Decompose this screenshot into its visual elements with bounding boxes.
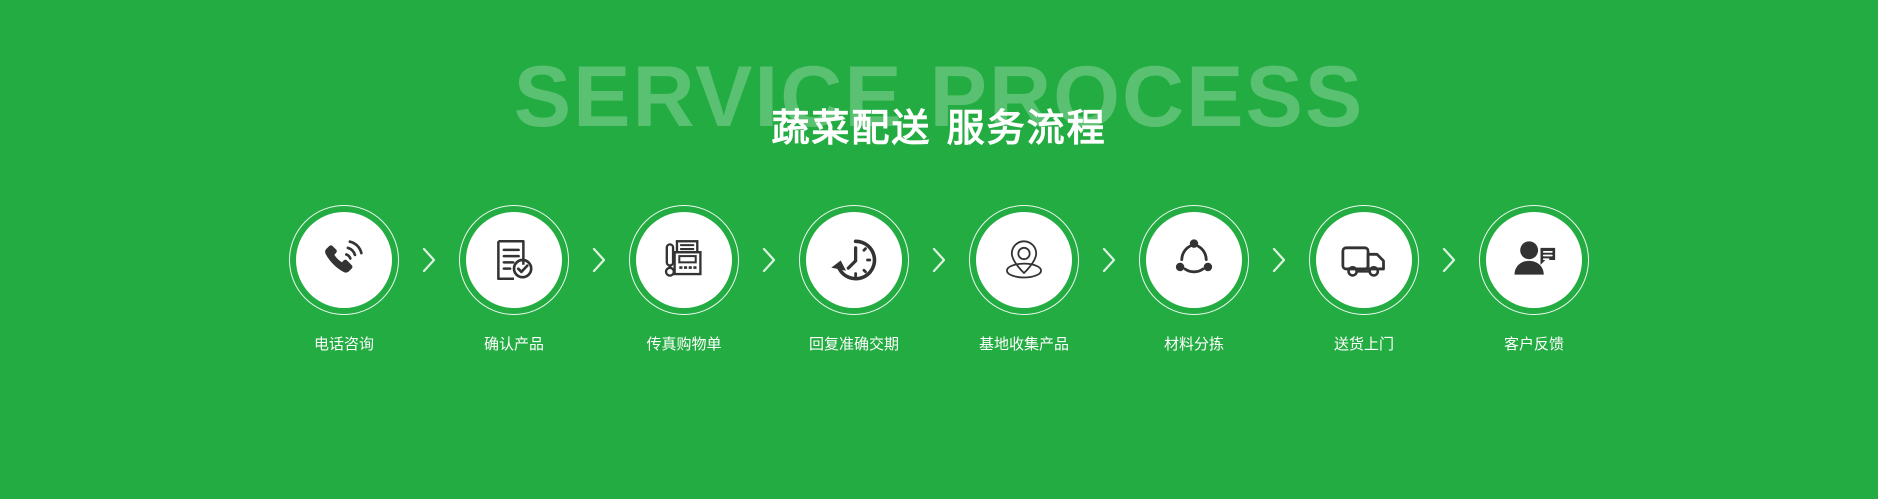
step-circle bbox=[806, 212, 902, 308]
step-circle-ring bbox=[1479, 205, 1589, 315]
process-step-5[interactable]: 基地收集产品 bbox=[962, 205, 1086, 353]
process-step-6[interactable]: 材料分拣 bbox=[1132, 205, 1256, 353]
step-label: 送货上门 bbox=[1334, 335, 1394, 353]
step-circle bbox=[1316, 212, 1412, 308]
sorting-nodes-icon bbox=[1169, 235, 1219, 285]
step-separator-4 bbox=[916, 205, 962, 315]
step-label: 传真购物单 bbox=[646, 335, 721, 353]
step-circle bbox=[466, 212, 562, 308]
step-label: 电话咨询 bbox=[314, 335, 374, 353]
fax-machine-icon bbox=[659, 235, 709, 285]
chevron-right-icon bbox=[1099, 245, 1119, 275]
step-circle-ring bbox=[799, 205, 909, 315]
service-process-banner: SERVICE PROCESS 蔬菜配送 服务流程 电话咨询 bbox=[0, 0, 1878, 499]
chevron-right-icon bbox=[1269, 245, 1289, 275]
process-step-4[interactable]: 回复准确交期 bbox=[792, 205, 916, 353]
phone-call-icon bbox=[319, 235, 369, 285]
process-step-2[interactable]: 确认产品 bbox=[452, 205, 576, 353]
process-step-7[interactable]: 送货上门 bbox=[1302, 205, 1426, 353]
step-circle-ring bbox=[629, 205, 739, 315]
step-circle-ring bbox=[1309, 205, 1419, 315]
step-circle bbox=[296, 212, 392, 308]
process-step-1[interactable]: 电话咨询 bbox=[282, 205, 406, 353]
step-label: 基地收集产品 bbox=[979, 335, 1069, 353]
step-separator-2 bbox=[576, 205, 622, 315]
chevron-right-icon bbox=[589, 245, 609, 275]
step-circle-ring bbox=[289, 205, 399, 315]
chevron-right-icon bbox=[419, 245, 439, 275]
step-circle bbox=[636, 212, 732, 308]
step-circle bbox=[1486, 212, 1582, 308]
step-separator-3 bbox=[746, 205, 792, 315]
step-separator-5 bbox=[1086, 205, 1132, 315]
chevron-right-icon bbox=[759, 245, 779, 275]
delivery-truck-icon bbox=[1338, 234, 1390, 286]
step-circle bbox=[976, 212, 1072, 308]
step-separator-1 bbox=[406, 205, 452, 315]
process-step-8[interactable]: 客户反馈 bbox=[1472, 205, 1596, 353]
step-circle-ring bbox=[969, 205, 1079, 315]
process-step-3[interactable]: 传真购物单 bbox=[622, 205, 746, 353]
step-label: 客户反馈 bbox=[1504, 335, 1564, 353]
chevron-right-icon bbox=[929, 245, 949, 275]
step-separator-6 bbox=[1256, 205, 1302, 315]
step-circle-ring bbox=[459, 205, 569, 315]
user-feedback-icon bbox=[1508, 234, 1560, 286]
page-title: 蔬菜配送 服务流程 bbox=[0, 108, 1878, 150]
clock-arrow-icon bbox=[828, 234, 880, 286]
step-label: 材料分拣 bbox=[1164, 335, 1224, 353]
step-label: 确认产品 bbox=[484, 335, 544, 353]
step-circle-ring bbox=[1139, 205, 1249, 315]
process-steps-row: 电话咨询 bbox=[0, 205, 1878, 353]
headline-block: SERVICE PROCESS 蔬菜配送 服务流程 bbox=[0, 0, 1878, 200]
location-pin-icon bbox=[998, 234, 1050, 286]
step-label: 回复准确交期 bbox=[809, 335, 899, 353]
step-separator-7 bbox=[1426, 205, 1472, 315]
step-circle bbox=[1146, 212, 1242, 308]
chevron-right-icon bbox=[1439, 245, 1459, 275]
document-check-icon bbox=[489, 235, 539, 285]
